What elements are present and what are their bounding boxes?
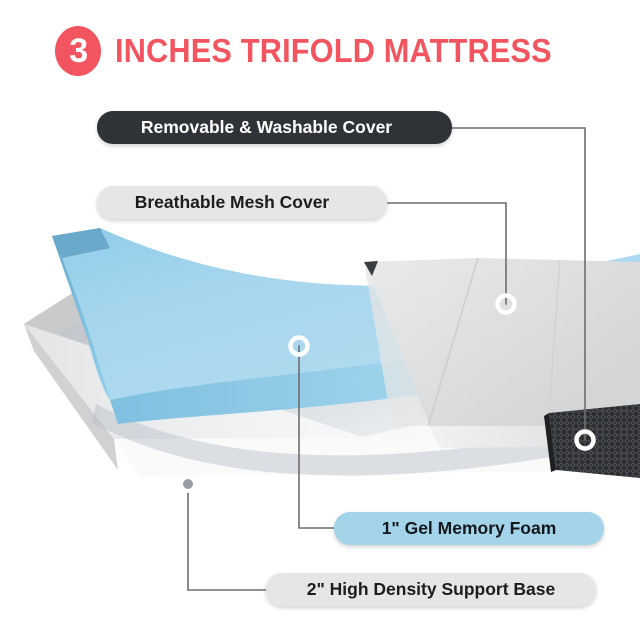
callout-high-density-support-base[interactable]: 2" High Density Support Base (266, 573, 596, 606)
callout-removable-washable-cover[interactable]: Removable & Washable Cover (97, 111, 452, 144)
connector-support-base (188, 484, 266, 590)
callout-gel-memory-foam[interactable]: 1" Gel Memory Foam (334, 512, 604, 545)
infographic-canvas: 3 INCHES TRIFOLD MATTRESS (0, 0, 640, 640)
callout-breathable-mesh-cover[interactable]: Breathable Mesh Cover (97, 186, 387, 219)
marker-support-base (179, 475, 197, 493)
